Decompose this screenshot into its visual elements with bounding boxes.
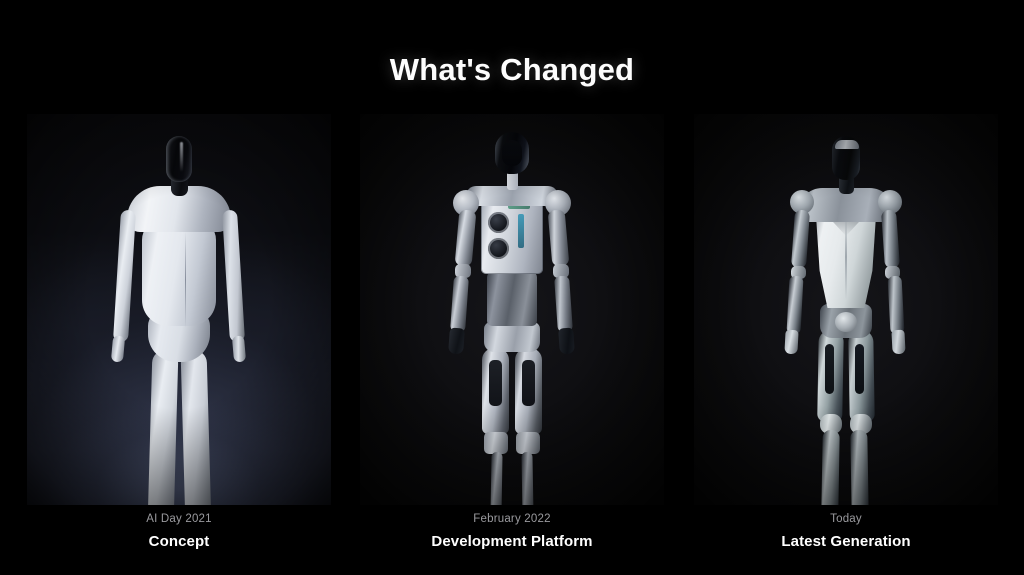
- figure-right-hand: [558, 328, 575, 355]
- caption-latest-generation: Today Latest Generation: [694, 512, 998, 551]
- panel-concept[interactable]: [27, 114, 331, 505]
- figure-left-thigh-panel: [489, 360, 502, 406]
- figure-suit-seam: [185, 232, 186, 328]
- figure-right-leg: [181, 350, 212, 505]
- figure-left-forearm: [786, 276, 803, 335]
- caption-name: Development Platform: [360, 533, 664, 551]
- figure-left-hand: [784, 330, 798, 355]
- figure-right-arm: [222, 210, 245, 343]
- figure-left-forearm: [450, 276, 469, 333]
- figure-pelvis: [484, 322, 540, 352]
- figure-left-hand: [111, 336, 125, 363]
- figure-right-thigh-void: [855, 344, 864, 394]
- panel-development-platform[interactable]: [360, 114, 664, 505]
- figure-left-thigh-void: [825, 344, 834, 394]
- figure-left-upper-arm: [791, 210, 810, 269]
- figure-left-upper-arm: [455, 209, 477, 266]
- presentation-slide: What's Changed: [0, 0, 1024, 575]
- caption-development-platform: February 2022 Development Platform: [360, 512, 664, 551]
- figure-torso: [142, 218, 216, 326]
- figure-left-knee: [484, 432, 508, 454]
- figure-chest-seam: [845, 214, 847, 300]
- figure-right-hand: [232, 336, 246, 363]
- figure-left-leg: [148, 350, 179, 505]
- figure-hip-actuator: [835, 312, 857, 332]
- figure-left-shin: [490, 452, 502, 505]
- figure-abdomen-mechanics: [487, 272, 537, 326]
- figure-right-shin: [521, 452, 533, 505]
- figure-left-arm: [113, 210, 136, 343]
- figure-teal-cable: [518, 214, 524, 248]
- caption-name: Concept: [27, 533, 331, 551]
- caption-date: February 2022: [360, 512, 664, 527]
- figure-visor: [502, 140, 522, 166]
- caption-concept: AI Day 2021 Concept: [27, 512, 331, 551]
- figure-left-hand: [448, 328, 465, 355]
- caption-name: Latest Generation: [694, 533, 998, 551]
- figure-chest-port-lower: [488, 238, 509, 259]
- figure-right-shin: [850, 430, 868, 505]
- comparison-panel-row: [27, 114, 998, 505]
- robot-figure-development-platform: [432, 114, 592, 505]
- caption-date: AI Day 2021: [27, 512, 331, 527]
- figure-right-knee: [516, 432, 540, 454]
- figure-chest-port-upper: [488, 212, 509, 233]
- panel-latest-generation[interactable]: [694, 114, 998, 505]
- figure-right-upper-arm: [548, 209, 570, 266]
- figure-head-stripe: [835, 140, 859, 149]
- robot-figure-latest-generation: [766, 114, 926, 505]
- robot-figure-concept: [99, 114, 259, 505]
- figure-left-shin: [821, 430, 839, 505]
- figure-head: [166, 136, 192, 182]
- caption-date: Today: [694, 512, 998, 527]
- figure-head-highlight: [180, 142, 183, 172]
- caption-row: AI Day 2021 Concept February 2022 Develo…: [27, 512, 998, 562]
- figure-right-forearm: [887, 276, 904, 335]
- page-title: What's Changed: [0, 52, 1024, 88]
- figure-right-thigh-panel: [522, 360, 535, 406]
- figure-chest-plate: [481, 200, 543, 274]
- figure-right-hand: [891, 330, 905, 355]
- figure-right-upper-arm: [881, 210, 900, 269]
- figure-right-forearm: [554, 276, 573, 333]
